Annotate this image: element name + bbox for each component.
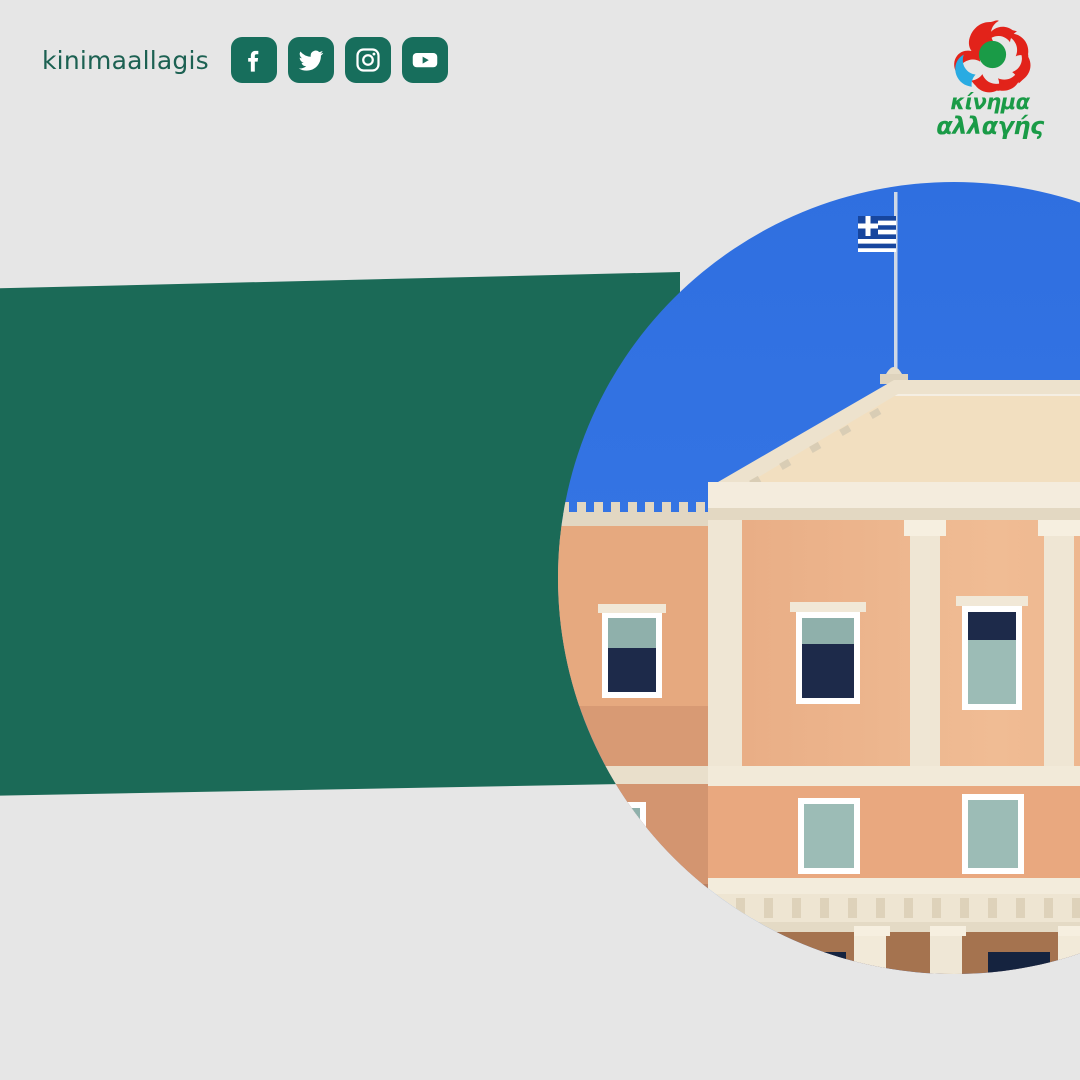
rose-logo-mark — [944, 16, 1036, 94]
social-handle: kinimaallagis — [42, 46, 209, 75]
youtube-icon[interactable] — [402, 37, 448, 83]
facebook-icon[interactable] — [231, 37, 277, 83]
logo-wordmark: κίνημα αλλαγής — [930, 92, 1050, 138]
dot-pattern-decoration — [0, 995, 1080, 1080]
twitter-icon[interactable] — [288, 37, 334, 83]
social-bar: kinimaallagis — [42, 32, 448, 88]
logo-line-2: αλλαγής — [930, 114, 1050, 138]
parliament-illustration — [558, 182, 1080, 974]
hellenic-parliament-photo — [558, 182, 1080, 974]
instagram-icon[interactable] — [345, 37, 391, 83]
logo-line-1: κίνημα — [930, 92, 1050, 113]
kinima-allagis-logo: κίνημα αλλαγής — [930, 16, 1050, 138]
social-media-graphic: kinimaallagis — [0, 0, 1080, 1080]
